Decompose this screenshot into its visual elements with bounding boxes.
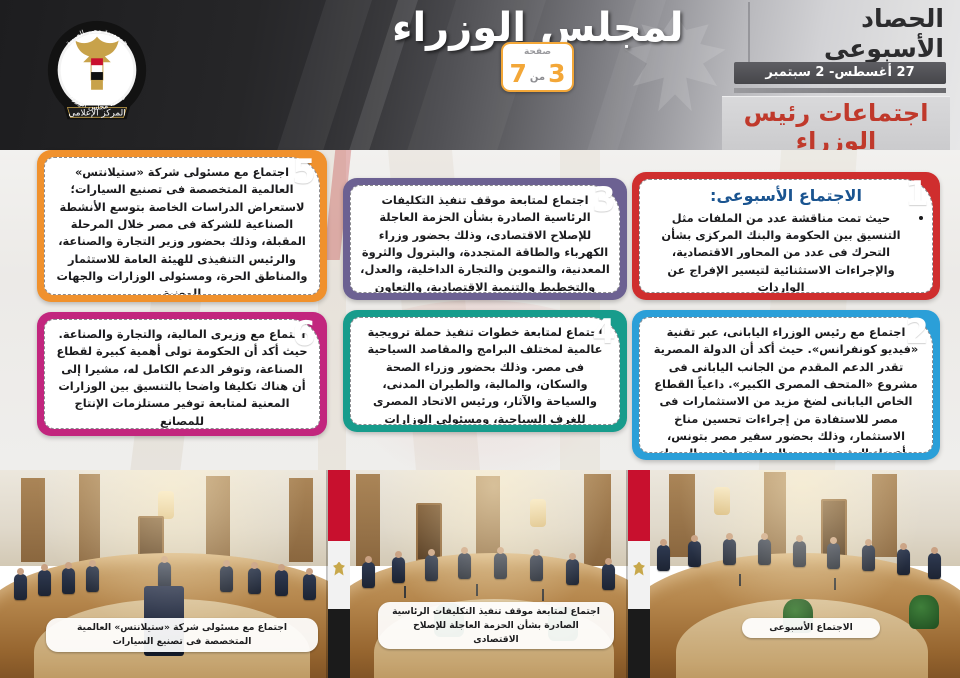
meeting-card-6[interactable]: 6 اجتماع مع وزيرى المالية، والتجارة والص… (37, 312, 327, 436)
card-content-2: اجتماع مع رئيس الوزراء اليابانى، عبر تقن… (639, 317, 933, 453)
egyptian-flag-separator (626, 470, 652, 678)
seat (303, 574, 316, 600)
seat (862, 545, 875, 571)
card-number-5: 5 (283, 152, 325, 192)
cabinet-media-center-logo-icon: المركز الإعلامى جمهورية مصر العربية رئاس… (38, 14, 156, 138)
card-body-6: اجتماع مع وزيرى المالية، والتجارة والصنا… (54, 326, 310, 429)
flag-red-band (628, 470, 650, 541)
seat (248, 568, 261, 594)
date-range-label: 27 أغسطس- 2 سبتمبر (734, 63, 946, 83)
page-badge-label: صفحة (503, 45, 572, 59)
meeting-card-1[interactable]: 1 الاجتماع الأسبوعى: حيث تمت مناقشة عدد … (632, 172, 940, 300)
seat (38, 570, 51, 596)
seat (758, 539, 771, 565)
card-body-3: اجتماع لمتابعة موقف تنفيذ التكليفات الرئ… (360, 192, 610, 293)
page-number-badge: صفحة 3من7 (501, 42, 574, 92)
egyptian-flag-separator (326, 470, 352, 678)
seat (425, 555, 438, 581)
meeting-card-4[interactable]: 4 اجتماع لمتابعة خطوات تنفيذ حملة ترويجي… (343, 310, 627, 432)
card-body-text-1: حيث تمت مناقشة عدد من الملفات مثل التنسي… (661, 211, 900, 293)
page-title-sub-line1: الحصاد (861, 4, 944, 33)
card-content-4: اجتماع لمتابعة خطوات تنفيذ حملة ترويجية … (350, 317, 620, 425)
flag-white-band (628, 541, 650, 610)
page-badge-separator: من (530, 72, 545, 83)
section-title-line1: اجتماعات رئيس (744, 99, 929, 127)
card-body-4: اجتماع لمتابعة خطوات تنفيذ حملة ترويجية … (360, 324, 610, 425)
seat (458, 553, 471, 579)
seat (392, 557, 405, 583)
seat (723, 539, 736, 565)
microphone-icon (834, 578, 836, 590)
meeting-card-3[interactable]: 3 اجتماع لمتابعة موقف تنفيذ التكليفات ال… (343, 178, 627, 300)
hall-scene (644, 470, 960, 678)
card-body-1: حيث تمت مناقشة عدد من الملفات مثل التنسي… (649, 210, 923, 293)
chandelier-icon (530, 499, 546, 527)
card-body-2: اجتماع مع رئيس الوزراء اليابانى، عبر تقن… (649, 324, 923, 453)
hall-panel (79, 474, 100, 561)
seat-head (158, 562, 171, 588)
seat (688, 541, 701, 567)
meeting-card-2[interactable]: 2 اجتماع مع رئيس الوزراء اليابانى، عبر ت… (632, 310, 940, 460)
seat (793, 541, 806, 567)
infographic-page: المركز الإعلامى جمهورية مصر العربية رئاس… (0, 0, 960, 678)
card-content-3: اجتماع لمتابعة موقف تنفيذ التكليفات الرئ… (350, 185, 620, 293)
flag-white-band (328, 541, 350, 610)
seat (566, 559, 579, 585)
hall-panel (872, 474, 897, 557)
seat (602, 564, 615, 590)
section-title-banner: اجتماعات رئيس الوزراء (722, 96, 950, 158)
flag-black-band (628, 609, 650, 678)
card-number-3: 3 (583, 180, 625, 220)
flag-red-band (328, 470, 350, 541)
header-streak (264, 0, 381, 150)
seat (275, 570, 288, 596)
page-badge-total: 7 (509, 59, 526, 88)
card-body-5: اجتماع مع مسئولى شركة «ستيلانتس» العالمي… (54, 164, 310, 295)
card-content-1: الاجتماع الأسبوعى: حيث تمت مناقشة عدد من… (639, 179, 933, 293)
seat (897, 549, 910, 575)
microphone-icon (404, 586, 406, 598)
photo-weekly-meeting (644, 470, 960, 678)
seat (62, 568, 75, 594)
flag-black-band (328, 609, 350, 678)
seat (530, 555, 543, 581)
seat (220, 566, 233, 592)
card-number-4: 4 (583, 312, 625, 352)
chandelier-icon (714, 487, 730, 515)
chandelier-icon (158, 491, 174, 519)
card-number-6: 6 (283, 314, 325, 354)
card-number-1: 1 (896, 174, 938, 214)
card-content-5: اجتماع مع مسئولى شركة «ستيلانتس» العالمي… (44, 157, 320, 295)
card-heading-1: الاجتماع الأسبوعى: (649, 186, 923, 207)
card-number-2: 2 (896, 312, 938, 352)
bullet-dot-icon (919, 216, 923, 220)
page-badge-current: 3 (548, 59, 565, 88)
seat (494, 553, 507, 579)
microphone-icon (739, 574, 741, 586)
page-badge-numbers: 3من7 (503, 59, 572, 93)
card-content-6: اجتماع مع وزيرى المالية، والتجارة والصنا… (44, 319, 320, 429)
photo-caption-weekly-meeting: الاجتماع الأسبوعى (742, 618, 880, 638)
seat (14, 574, 27, 600)
microphone-icon (476, 584, 478, 596)
date-underline (734, 88, 946, 93)
hall-panel (584, 474, 611, 566)
seat (827, 543, 840, 569)
hall-panel (206, 476, 230, 561)
seat (86, 566, 99, 592)
hall-panel (289, 478, 313, 561)
photo-caption-presidential-assignments: اجتماع لمتابعة موقف تنفيذ التكليفات الرئ… (378, 602, 614, 649)
meeting-card-5[interactable]: 5 اجتماع مع مسئولى شركة «ستيلانتس» العال… (37, 150, 327, 302)
seat (362, 562, 375, 588)
page-title-sub: الحصاد الأسبوعى (744, 4, 944, 63)
hall-panel (21, 478, 45, 561)
photo-caption-stellantis: اجتماع مع مسئولى شركة «ستيلانتس» العالمي… (46, 618, 318, 652)
seat (657, 545, 670, 571)
page-title-sub-line2: الأسبوعى (744, 34, 944, 64)
plant (909, 595, 939, 629)
seat (928, 553, 941, 579)
section-title-text: اجتماعات رئيس الوزراء (744, 100, 929, 156)
hall-panel (356, 474, 380, 566)
microphone-icon (542, 589, 544, 601)
